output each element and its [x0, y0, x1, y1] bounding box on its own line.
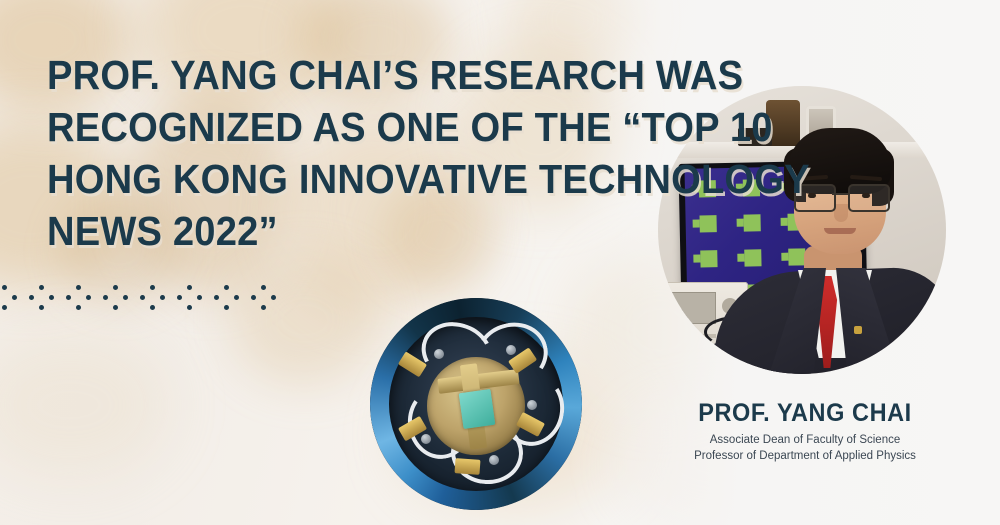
dot: [39, 285, 44, 290]
dot: [66, 295, 71, 300]
caption-block: PROF. YANG CHAI Associate Dean of Facult…: [660, 398, 950, 464]
portrait-instrument-display: [660, 292, 716, 324]
portrait-lens: [848, 184, 890, 212]
dot: [224, 305, 229, 310]
dot: [86, 295, 91, 300]
portrait-mouth: [824, 228, 856, 234]
dot: [214, 295, 219, 300]
dot-cluster: [0, 280, 22, 314]
dot: [187, 285, 192, 290]
dot: [271, 295, 276, 300]
dot: [187, 305, 192, 310]
device-connector: [454, 458, 480, 475]
dot: [103, 295, 108, 300]
dot: [150, 285, 155, 290]
dot-cluster: [25, 280, 59, 314]
dot: [39, 305, 44, 310]
dot: [261, 305, 266, 310]
dot: [224, 285, 229, 290]
dot: [160, 295, 165, 300]
dot-cluster: [136, 280, 170, 314]
device-chip-sample: [459, 389, 496, 429]
dot-cluster: [173, 280, 207, 314]
chip-icon: [699, 215, 716, 232]
dot: [123, 295, 128, 300]
dot: [150, 305, 155, 310]
dot-cluster: [62, 280, 96, 314]
dot: [234, 295, 239, 300]
caption-subtitle-line-1: Associate Dean of Faculty of Science: [660, 432, 950, 448]
caption-subtitle-line-2: Professor of Department of Applied Physi…: [660, 448, 950, 464]
dot: [2, 305, 7, 310]
dot: [76, 305, 81, 310]
chip-icon: [743, 214, 760, 231]
headline-line-1: PROF. YANG CHAI’S RESEARCH WAS: [47, 49, 605, 101]
headline-line-2: RECOGNIZED AS ONE OF THE “TOP 10: [47, 101, 605, 153]
dot: [49, 295, 54, 300]
dot: [261, 285, 266, 290]
dot: [177, 295, 182, 300]
headline: PROF. YANG CHAI’S RESEARCH WAS RECOGNIZE…: [47, 49, 647, 257]
portrait-glasses-bridge: [832, 193, 848, 195]
dot: [12, 295, 17, 300]
dot-cluster: [210, 280, 244, 314]
chip-icon: [744, 249, 761, 266]
chip-icon: [700, 250, 717, 267]
dot: [76, 285, 81, 290]
device-photo-probe-station: [370, 298, 582, 510]
dot: [251, 295, 256, 300]
dot: [140, 295, 145, 300]
dot: [29, 295, 34, 300]
dot-cluster: [99, 280, 133, 314]
caption-name: PROF. YANG CHAI: [669, 398, 942, 428]
headline-line-4: NEWS 2022”: [47, 205, 605, 257]
announcement-banner: PROF. YANG CHAI’S RESEARCH WAS RECOGNIZE…: [0, 0, 1000, 525]
dot: [2, 285, 7, 290]
dot-cluster: [247, 280, 281, 314]
dot: [113, 285, 118, 290]
dot-diamond-divider: [0, 280, 288, 314]
chip-icon: [788, 248, 805, 265]
portrait-eye: [862, 193, 870, 198]
portrait-lapel-pin: [854, 326, 862, 334]
dot: [197, 295, 202, 300]
headline-line-3: HONG KONG INNOVATIVE TECHNOLOGY: [47, 153, 605, 205]
dot: [113, 305, 118, 310]
